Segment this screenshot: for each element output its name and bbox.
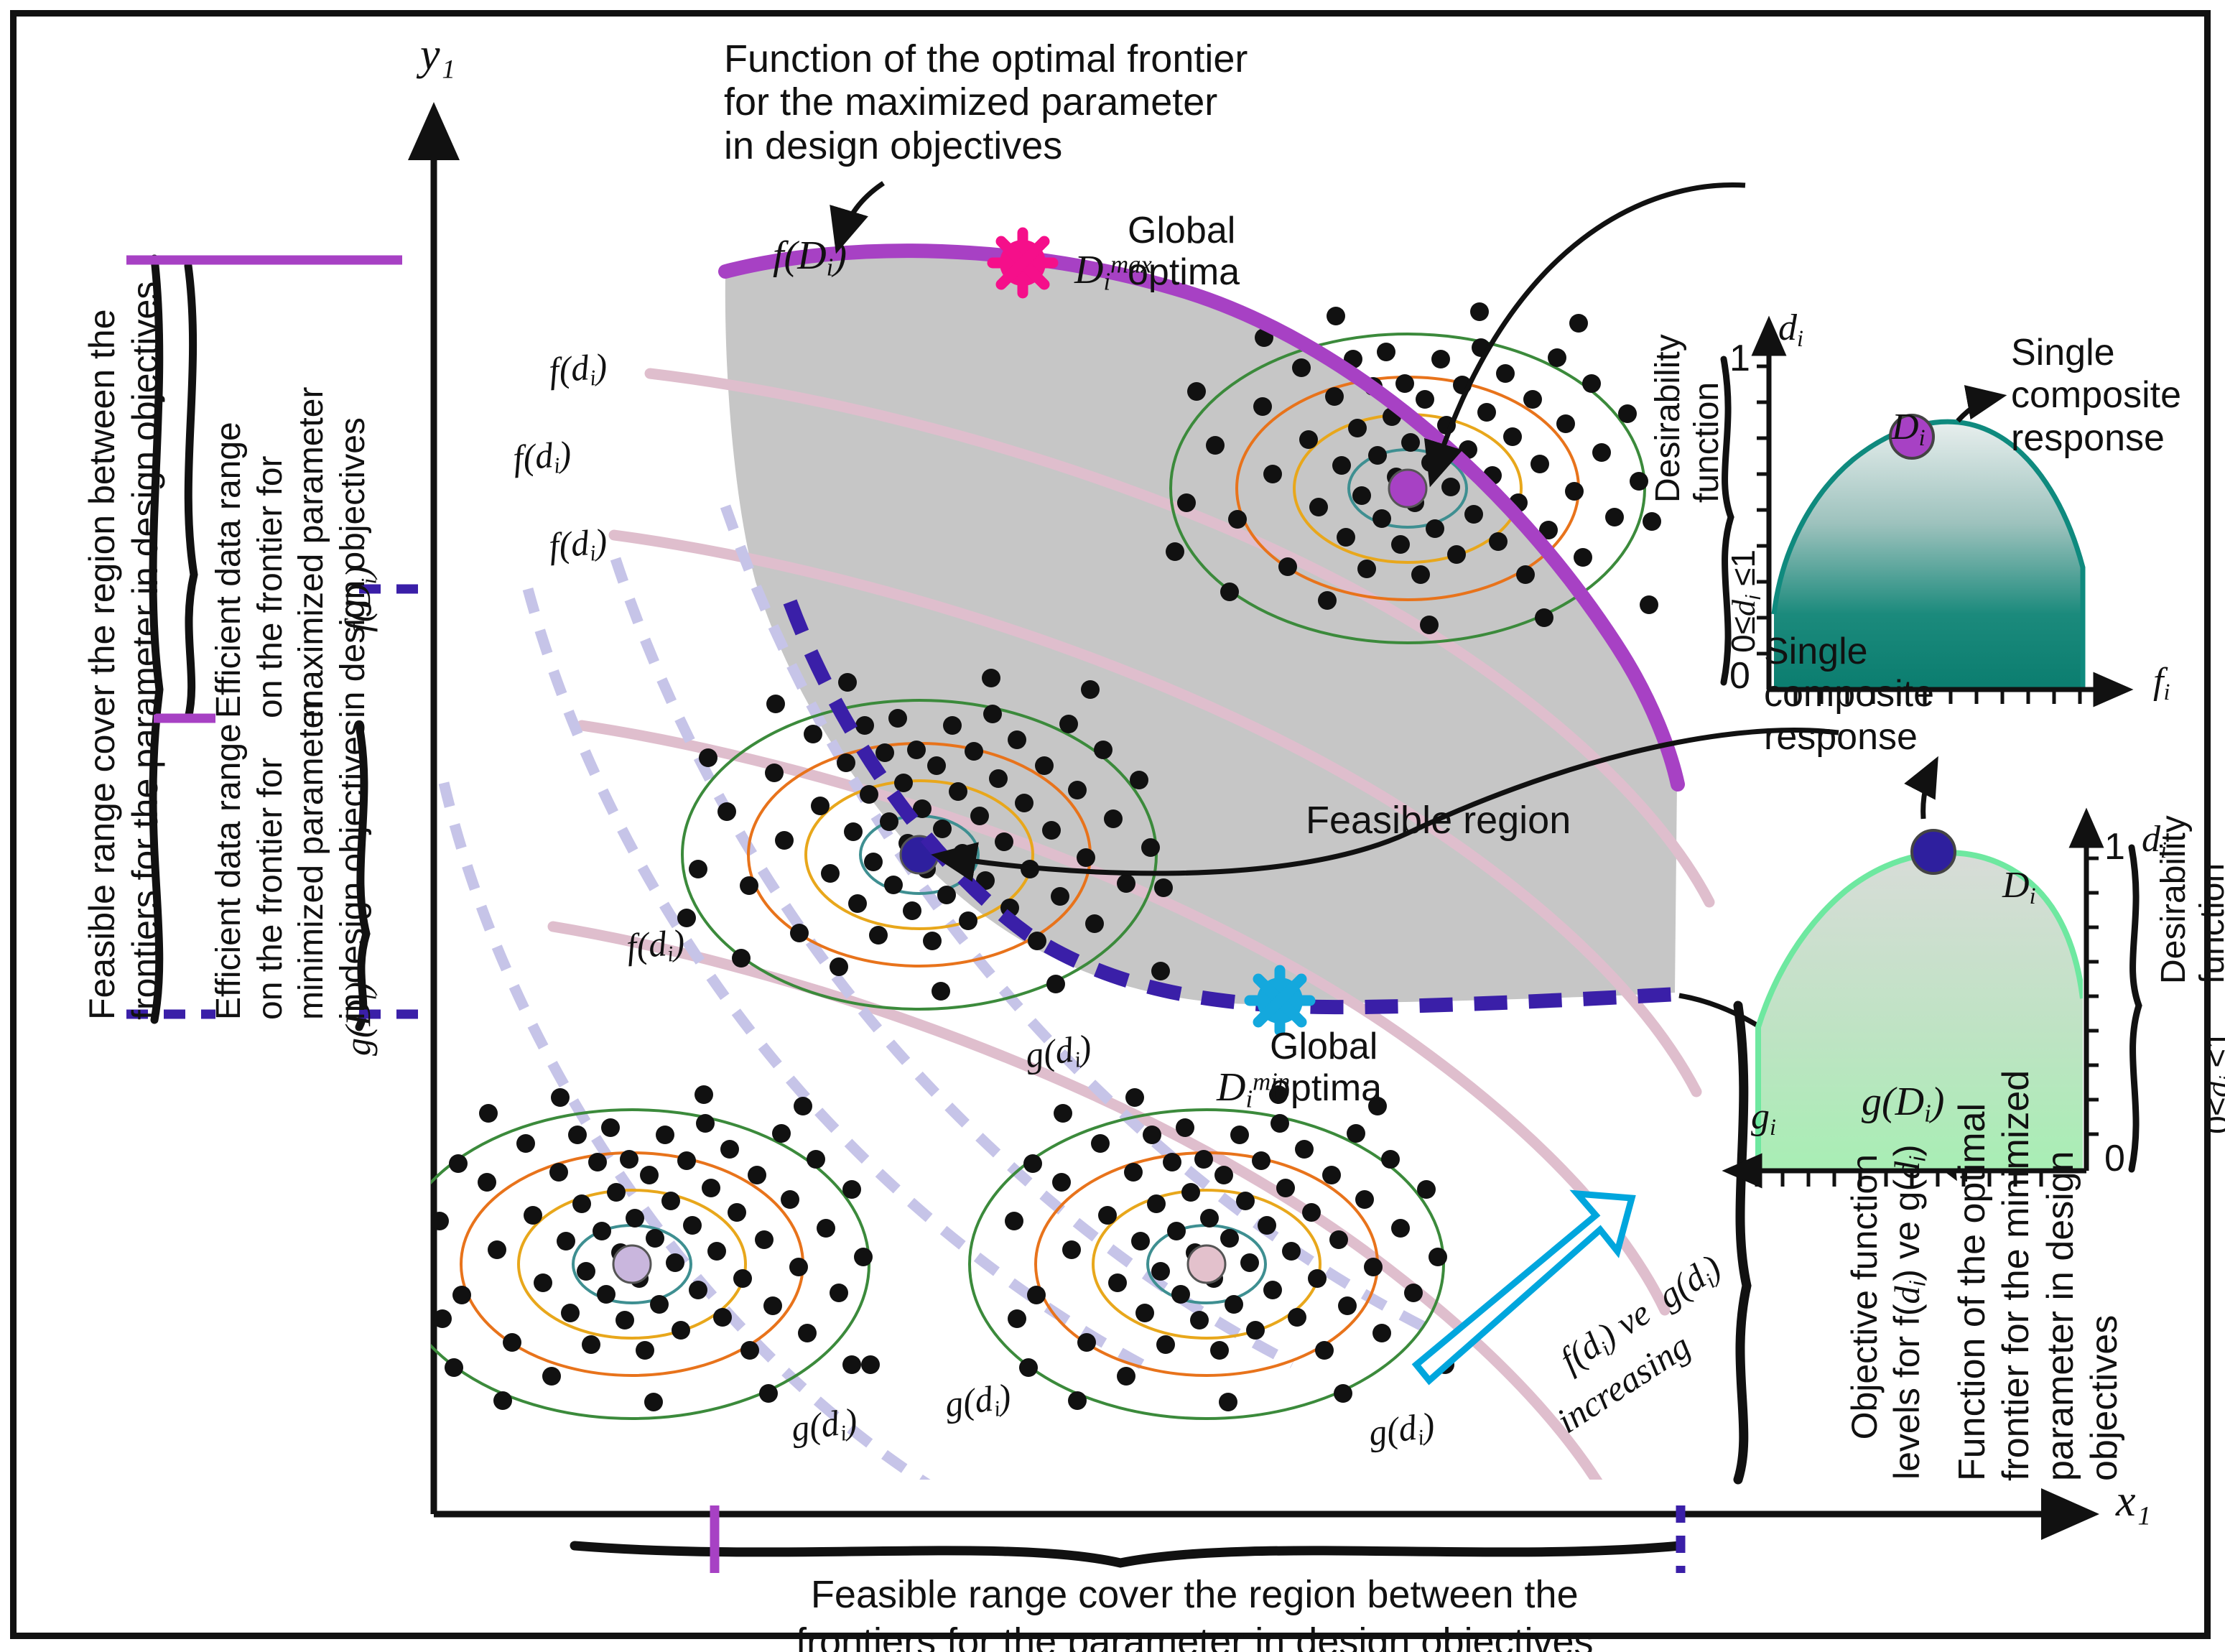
objective-levels-label: Objective functionlevels for f(di) ve g(…	[1801, 1144, 1974, 1480]
f-level-label-4: f(di)	[625, 922, 687, 970]
inset-top-x-axis-label: fi	[2116, 619, 2170, 747]
inset-top-callout: Single composite response	[2011, 332, 2181, 460]
feasible-region-label: Feasible region	[1306, 799, 1571, 842]
f-level-label-1: f(di)	[547, 345, 609, 394]
feasible-region-shape	[725, 255, 1677, 1004]
optima-max-text: Global optima	[1128, 210, 1240, 293]
y-axis-label: y₁	[420, 30, 455, 80]
f-level-label-2: f(di)	[511, 433, 573, 482]
f-Di-label: f(Di)	[733, 188, 847, 327]
g-Di-label: g(Di)	[1821, 1034, 1944, 1173]
left-caption: Feasible range cover the region between …	[80, 282, 167, 1020]
inset-bottom-callout: Single composite response	[1764, 631, 1934, 758]
f-Di-range-label: f(Di)	[338, 566, 381, 632]
inset-top-side-label: Desirability function	[1649, 334, 1727, 503]
figure-canvas: y₁ x₁ Function of the optimal frontier f…	[0, 0, 2225, 1652]
x-axis-label: x₁	[2116, 1477, 2151, 1526]
bottom-caption: Feasible range cover the region between …	[796, 1572, 1594, 1652]
g-level-label-2: g(di)	[789, 1400, 860, 1453]
g-Di-range-label: g(Di)	[338, 982, 381, 1056]
inset-top-tick-1: 1	[1729, 338, 1750, 379]
g-level-label-1: g(di)	[1023, 1026, 1095, 1080]
inset-bottom-bracket-label: 0≤di ≤1	[2162, 1031, 2225, 1171]
inset-bottom-point-marker	[1912, 830, 1955, 873]
cluster-center-marker-upper-right	[1389, 470, 1426, 507]
efficient-range-min-label: Efficient data range on the frontier for…	[208, 698, 373, 1020]
cluster-center-marker-lower-right	[1188, 1245, 1225, 1283]
inset-bottom-tick-1: 1	[2104, 826, 2125, 868]
g-level-label-3: g(di)	[942, 1375, 1014, 1429]
inset-bottom-side-label: Desirability function	[2155, 815, 2225, 984]
inset-top-y-axis-label: di	[1741, 266, 1803, 394]
top-title: Function of the optimal frontier for the…	[724, 37, 1248, 167]
inset-bottom-tick-0: 0	[2104, 1138, 2125, 1179]
cluster-center-marker-lower-left	[613, 1245, 651, 1283]
efficient-range-max-label: Efficient data range on the frontier for…	[208, 387, 373, 718]
inset-bottom-x-axis-label: gi	[1714, 1054, 1776, 1182]
bottom-right-title: Function of the optimal frontier for the…	[1951, 1070, 2127, 1481]
inset-top-point-label: Di	[1854, 365, 1926, 493]
g-level-label-4: g(di)	[1366, 1404, 1438, 1457]
optima-min-text: Global optima	[1270, 1026, 1382, 1109]
inset-bottom-point-label: Di	[1965, 823, 2036, 951]
cluster-lower-left	[395, 1085, 880, 1419]
f-level-label-3: f(di)	[547, 521, 609, 570]
